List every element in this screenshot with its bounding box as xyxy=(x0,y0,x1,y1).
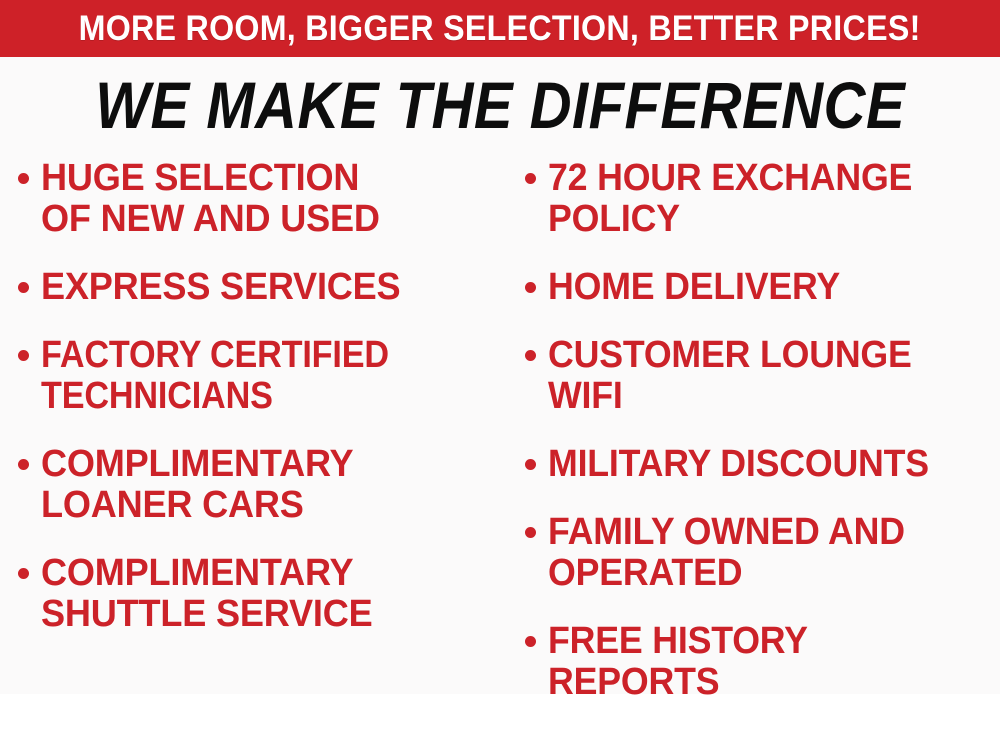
bullet-dot-icon xyxy=(18,350,29,361)
promotional-poster: MORE ROOM, BIGGER SELECTION, BETTER PRIC… xyxy=(0,0,1000,694)
benefit-list-item: MILITARY DISCOUNTS xyxy=(525,444,998,485)
bullet-dot-icon xyxy=(525,350,536,361)
benefits-column-right: 72 HOUR EXCHANGE POLICYHOME DELIVERYCUST… xyxy=(505,158,1000,730)
benefit-list-item-label: 72 HOUR EXCHANGE POLICY xyxy=(548,158,912,240)
benefit-list-item-label: COMPLIMENTARY LOANER CARS xyxy=(41,444,353,526)
bullet-dot-icon xyxy=(525,459,536,470)
benefits-column-left: HUGE SELECTION OF NEW AND USEDEXPRESS SE… xyxy=(0,158,505,662)
bullet-dot-icon xyxy=(525,282,536,293)
bullet-dot-icon xyxy=(18,173,29,184)
benefit-list-item: FREE HISTORY REPORTS xyxy=(525,621,998,703)
page-title: WE MAKE THE DIFFERENCE xyxy=(95,72,905,138)
bullet-dot-icon xyxy=(18,459,29,470)
benefit-list-item: CUSTOMER LOUNGE WIFI xyxy=(525,335,998,417)
benefit-list-item: EXPRESS SERVICES xyxy=(18,267,501,308)
benefit-list-item: COMPLIMENTARY LOANER CARS xyxy=(18,444,501,526)
benefit-list-item-label: CUSTOMER LOUNGE WIFI xyxy=(548,335,912,417)
benefit-list-item: FAMILY OWNED AND OPERATED xyxy=(525,512,998,594)
benefit-list-item: HOME DELIVERY xyxy=(525,267,998,308)
benefit-list-item-label: FACTORY CERTIFIED TECHNICIANS xyxy=(41,335,389,417)
bullet-dot-icon xyxy=(18,282,29,293)
benefit-list-item-label: FAMILY OWNED AND OPERATED xyxy=(548,512,905,594)
top-banner: MORE ROOM, BIGGER SELECTION, BETTER PRIC… xyxy=(0,0,1000,57)
benefit-list-item-label: HUGE SELECTION OF NEW AND USED xyxy=(41,158,380,240)
bullet-dot-icon xyxy=(525,527,536,538)
headline-container: WE MAKE THE DIFFERENCE xyxy=(0,66,1000,144)
benefit-list-item-label: EXPRESS SERVICES xyxy=(41,267,400,308)
benefit-list-item: 72 HOUR EXCHANGE POLICY xyxy=(525,158,998,240)
bullet-dot-icon xyxy=(18,568,29,579)
benefit-list-item: FACTORY CERTIFIED TECHNICIANS xyxy=(18,335,501,417)
benefit-list-item-label: MILITARY DISCOUNTS xyxy=(548,444,929,485)
bullet-dot-icon xyxy=(525,173,536,184)
benefit-list-item: COMPLIMENTARY SHUTTLE SERVICE xyxy=(18,553,501,635)
benefit-list-item-label: COMPLIMENTARY SHUTTLE SERVICE xyxy=(41,553,372,635)
banner-headline-text: MORE ROOM, BIGGER SELECTION, BETTER PRIC… xyxy=(79,11,921,46)
benefit-list-item-label: FREE HISTORY REPORTS xyxy=(548,621,808,703)
benefit-list-item: HUGE SELECTION OF NEW AND USED xyxy=(18,158,501,240)
bullet-dot-icon xyxy=(525,636,536,647)
benefit-list-item-label: HOME DELIVERY xyxy=(548,267,840,308)
benefits-columns: HUGE SELECTION OF NEW AND USEDEXPRESS SE… xyxy=(0,158,1000,694)
